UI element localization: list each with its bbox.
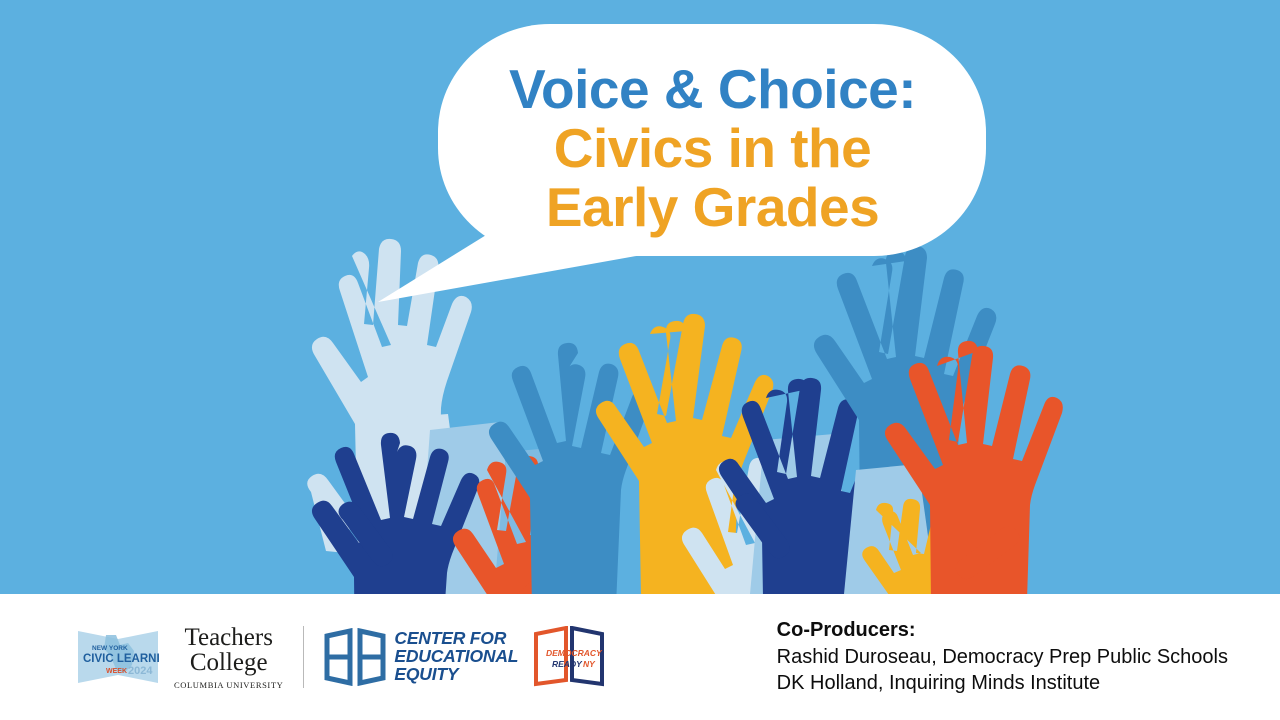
logo-divider	[303, 626, 304, 688]
title-line-2: Civics in the	[440, 121, 985, 176]
drny-line-2: READY	[552, 659, 583, 669]
teachers-college-logo: Teachers College COLUMBIA UNIVERSITY	[174, 625, 283, 690]
nyclw-line3: WEEK	[106, 668, 127, 675]
logo-bar: NEW YORK CIVIC LEARNING WEEK 2024 Teache…	[0, 594, 606, 720]
nyclw-line2: CIVIC LEARNING	[83, 653, 160, 665]
nyclw-logo-mark: NEW YORK CIVIC LEARNING WEEK 2024	[76, 625, 160, 689]
co-producer-line-2: DK Holland, Inquiring Minds Institute	[777, 670, 1228, 696]
nyclw-line1: NEW YORK	[92, 645, 128, 652]
nyclw-year: 2024	[128, 665, 153, 677]
speech-bubble: Voice & Choice: Civics in the Early Grad…	[370, 18, 995, 310]
open-book-bracket-icon	[324, 628, 386, 686]
co-producers-heading: Co-Producers:	[777, 617, 1228, 643]
center-for-educational-equity-logo: CENTER FOR EDUCATIONAL EQUITY	[324, 628, 518, 686]
hero-section: Voice & Choice: Civics in the Early Grad…	[0, 0, 1280, 594]
title-line-1: Voice & Choice:	[440, 62, 985, 117]
title-block: Voice & Choice: Civics in the Early Grad…	[440, 62, 985, 235]
teachers-college-line-1: Teachers	[184, 625, 272, 650]
teachers-college-sub: COLUMBIA UNIVERSITY	[174, 680, 283, 690]
drny-line-3: NY	[583, 659, 596, 669]
democracy-ready-ny-logo: DEMOCRACY READY NY	[532, 626, 606, 688]
slide: Voice & Choice: Civics in the Early Grad…	[0, 0, 1280, 720]
co-producers-block: Co-Producers: Rashid Duroseau, Democracy…	[777, 617, 1280, 696]
co-producer-line-1: Rashid Duroseau, Democracy Prep Public S…	[777, 644, 1228, 670]
title-line-3: Early Grades	[440, 180, 985, 235]
cee-line-3: EQUITY	[394, 666, 518, 684]
teachers-college-line-2: College	[190, 650, 268, 675]
democracy-ready-book-icon: DEMOCRACY READY NY	[532, 626, 606, 688]
footer-bar: NEW YORK CIVIC LEARNING WEEK 2024 Teache…	[0, 594, 1280, 720]
drny-line-1: DEMOCRACY	[546, 648, 603, 658]
cee-wordmark: CENTER FOR EDUCATIONAL EQUITY	[394, 630, 518, 684]
nyclw-logo: NEW YORK CIVIC LEARNING WEEK 2024	[76, 625, 160, 689]
